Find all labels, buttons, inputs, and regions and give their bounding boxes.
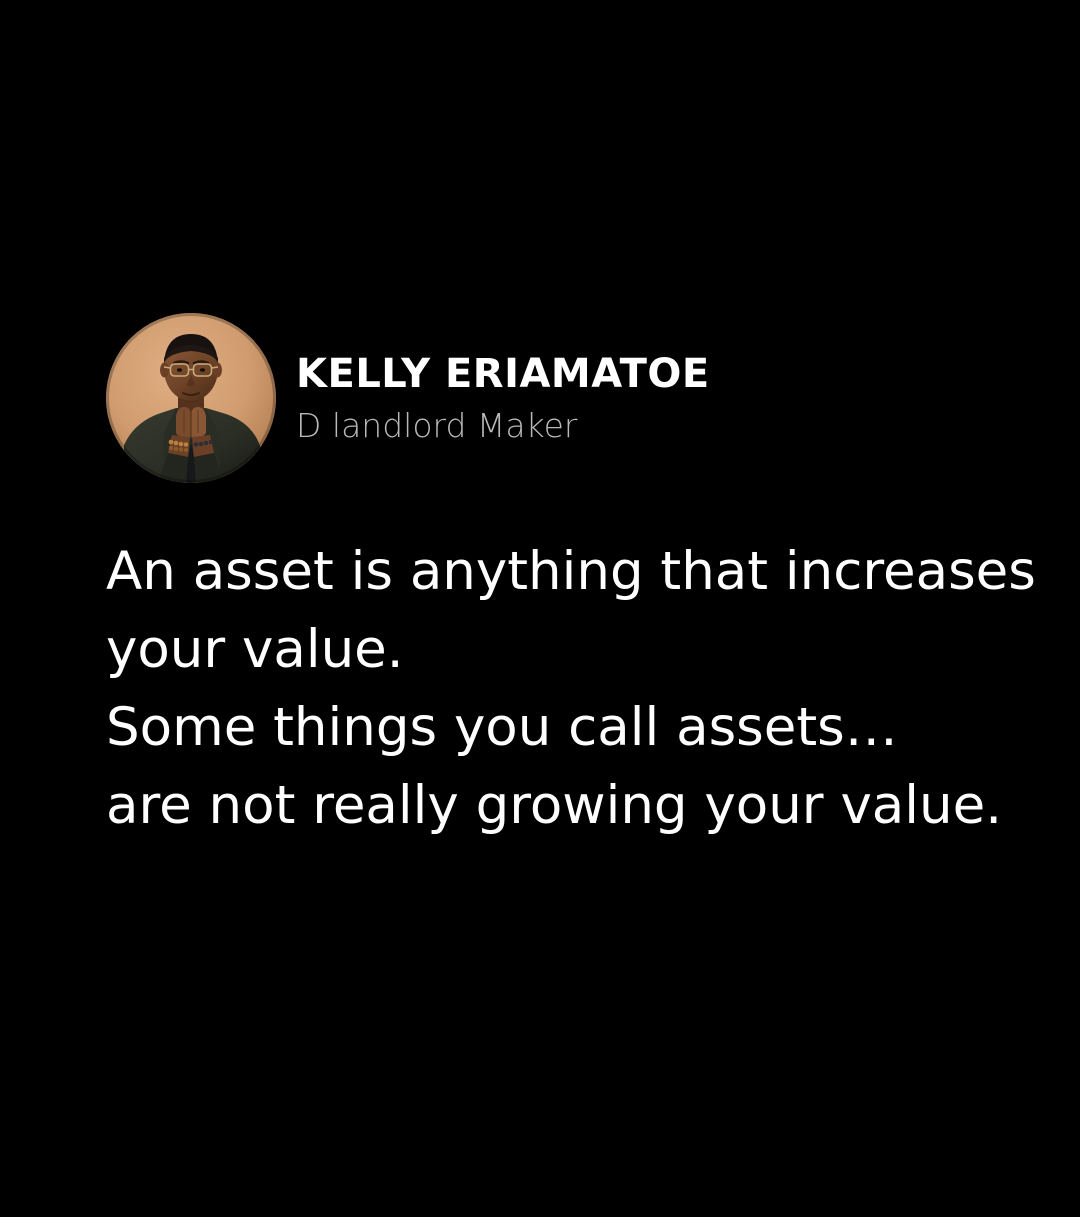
quote-line-4: are not really growing your value. xyxy=(106,767,1006,845)
author-text: KELLY ERIAMATOE D landlord Maker xyxy=(296,353,710,444)
author-handle: D landlord Maker xyxy=(296,409,710,444)
quote-line-2: your value. xyxy=(106,611,1006,689)
author-block: KELLY ERIAMATOE D landlord Maker xyxy=(106,313,710,483)
author-name: KELLY ERIAMATOE xyxy=(296,353,710,395)
avatar-portrait-photo xyxy=(106,313,276,483)
quote-line-1: An asset is anything that increases xyxy=(106,533,1006,611)
quote-line-3: Some things you call assets… xyxy=(106,689,1006,767)
quote-text: An asset is anything that increases your… xyxy=(106,533,1006,845)
avatar xyxy=(106,313,276,483)
quote-card: KELLY ERIAMATOE D landlord Maker An asse… xyxy=(0,0,1080,1217)
